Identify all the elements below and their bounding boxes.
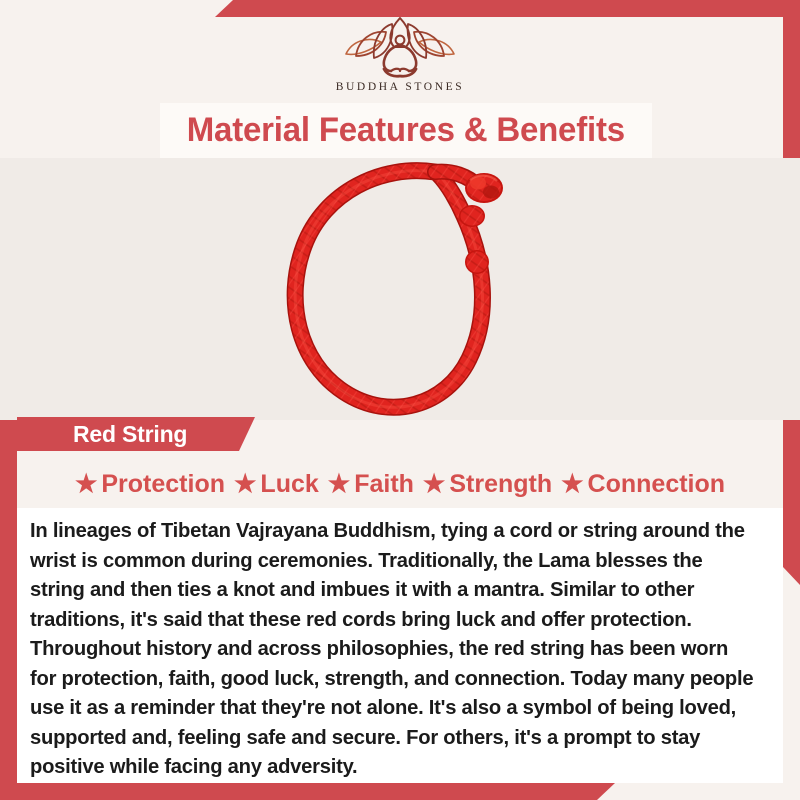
material-ribbon: Red String <box>17 417 255 451</box>
feature-list: ★ Protection ★ Luck ★ Faith ★ Strength ★… <box>0 462 800 506</box>
star-icon: ★ <box>561 472 583 497</box>
product-image-area <box>0 158 800 420</box>
bracelet-knot-secondary <box>459 205 485 227</box>
bracelet-knot-tertiary <box>465 250 489 274</box>
feature-item-luck: ★ Luck <box>234 470 319 499</box>
feature-item-strength: ★ Strength <box>423 470 552 499</box>
brand-name: BUDDHA STONES <box>0 81 800 93</box>
lotus-meditation-logo-icon <box>334 14 466 80</box>
description-text: In lineages of Tibetan Vajrayana Buddhis… <box>30 516 756 782</box>
description-block: In lineages of Tibetan Vajrayana Buddhis… <box>17 508 783 783</box>
feature-label: Faith <box>354 470 414 499</box>
feature-item-protection: ★ Protection <box>75 470 225 499</box>
feature-label: Strength <box>449 470 552 499</box>
star-icon: ★ <box>75 472 97 497</box>
bracelet-knot <box>465 173 503 203</box>
star-icon: ★ <box>328 472 350 497</box>
infographic-page: BUDDHA STONES Material Features & Benefi… <box>0 0 800 800</box>
title-panel: Material Features & Benefits <box>160 103 652 158</box>
star-icon: ★ <box>234 472 256 497</box>
feature-item-connection: ★ Connection <box>561 470 725 499</box>
brand-logo: BUDDHA STONES <box>0 14 800 93</box>
material-name: Red String <box>73 421 187 448</box>
feature-label: Luck <box>260 470 318 499</box>
feature-label: Connection <box>588 470 726 499</box>
feature-label: Protection <box>101 470 225 499</box>
star-icon: ★ <box>423 472 445 497</box>
red-string-bracelet-icon <box>232 158 572 420</box>
page-title: Material Features & Benefits <box>187 111 625 150</box>
feature-item-faith: ★ Faith <box>328 470 414 499</box>
frame-band-bottom <box>0 783 615 800</box>
